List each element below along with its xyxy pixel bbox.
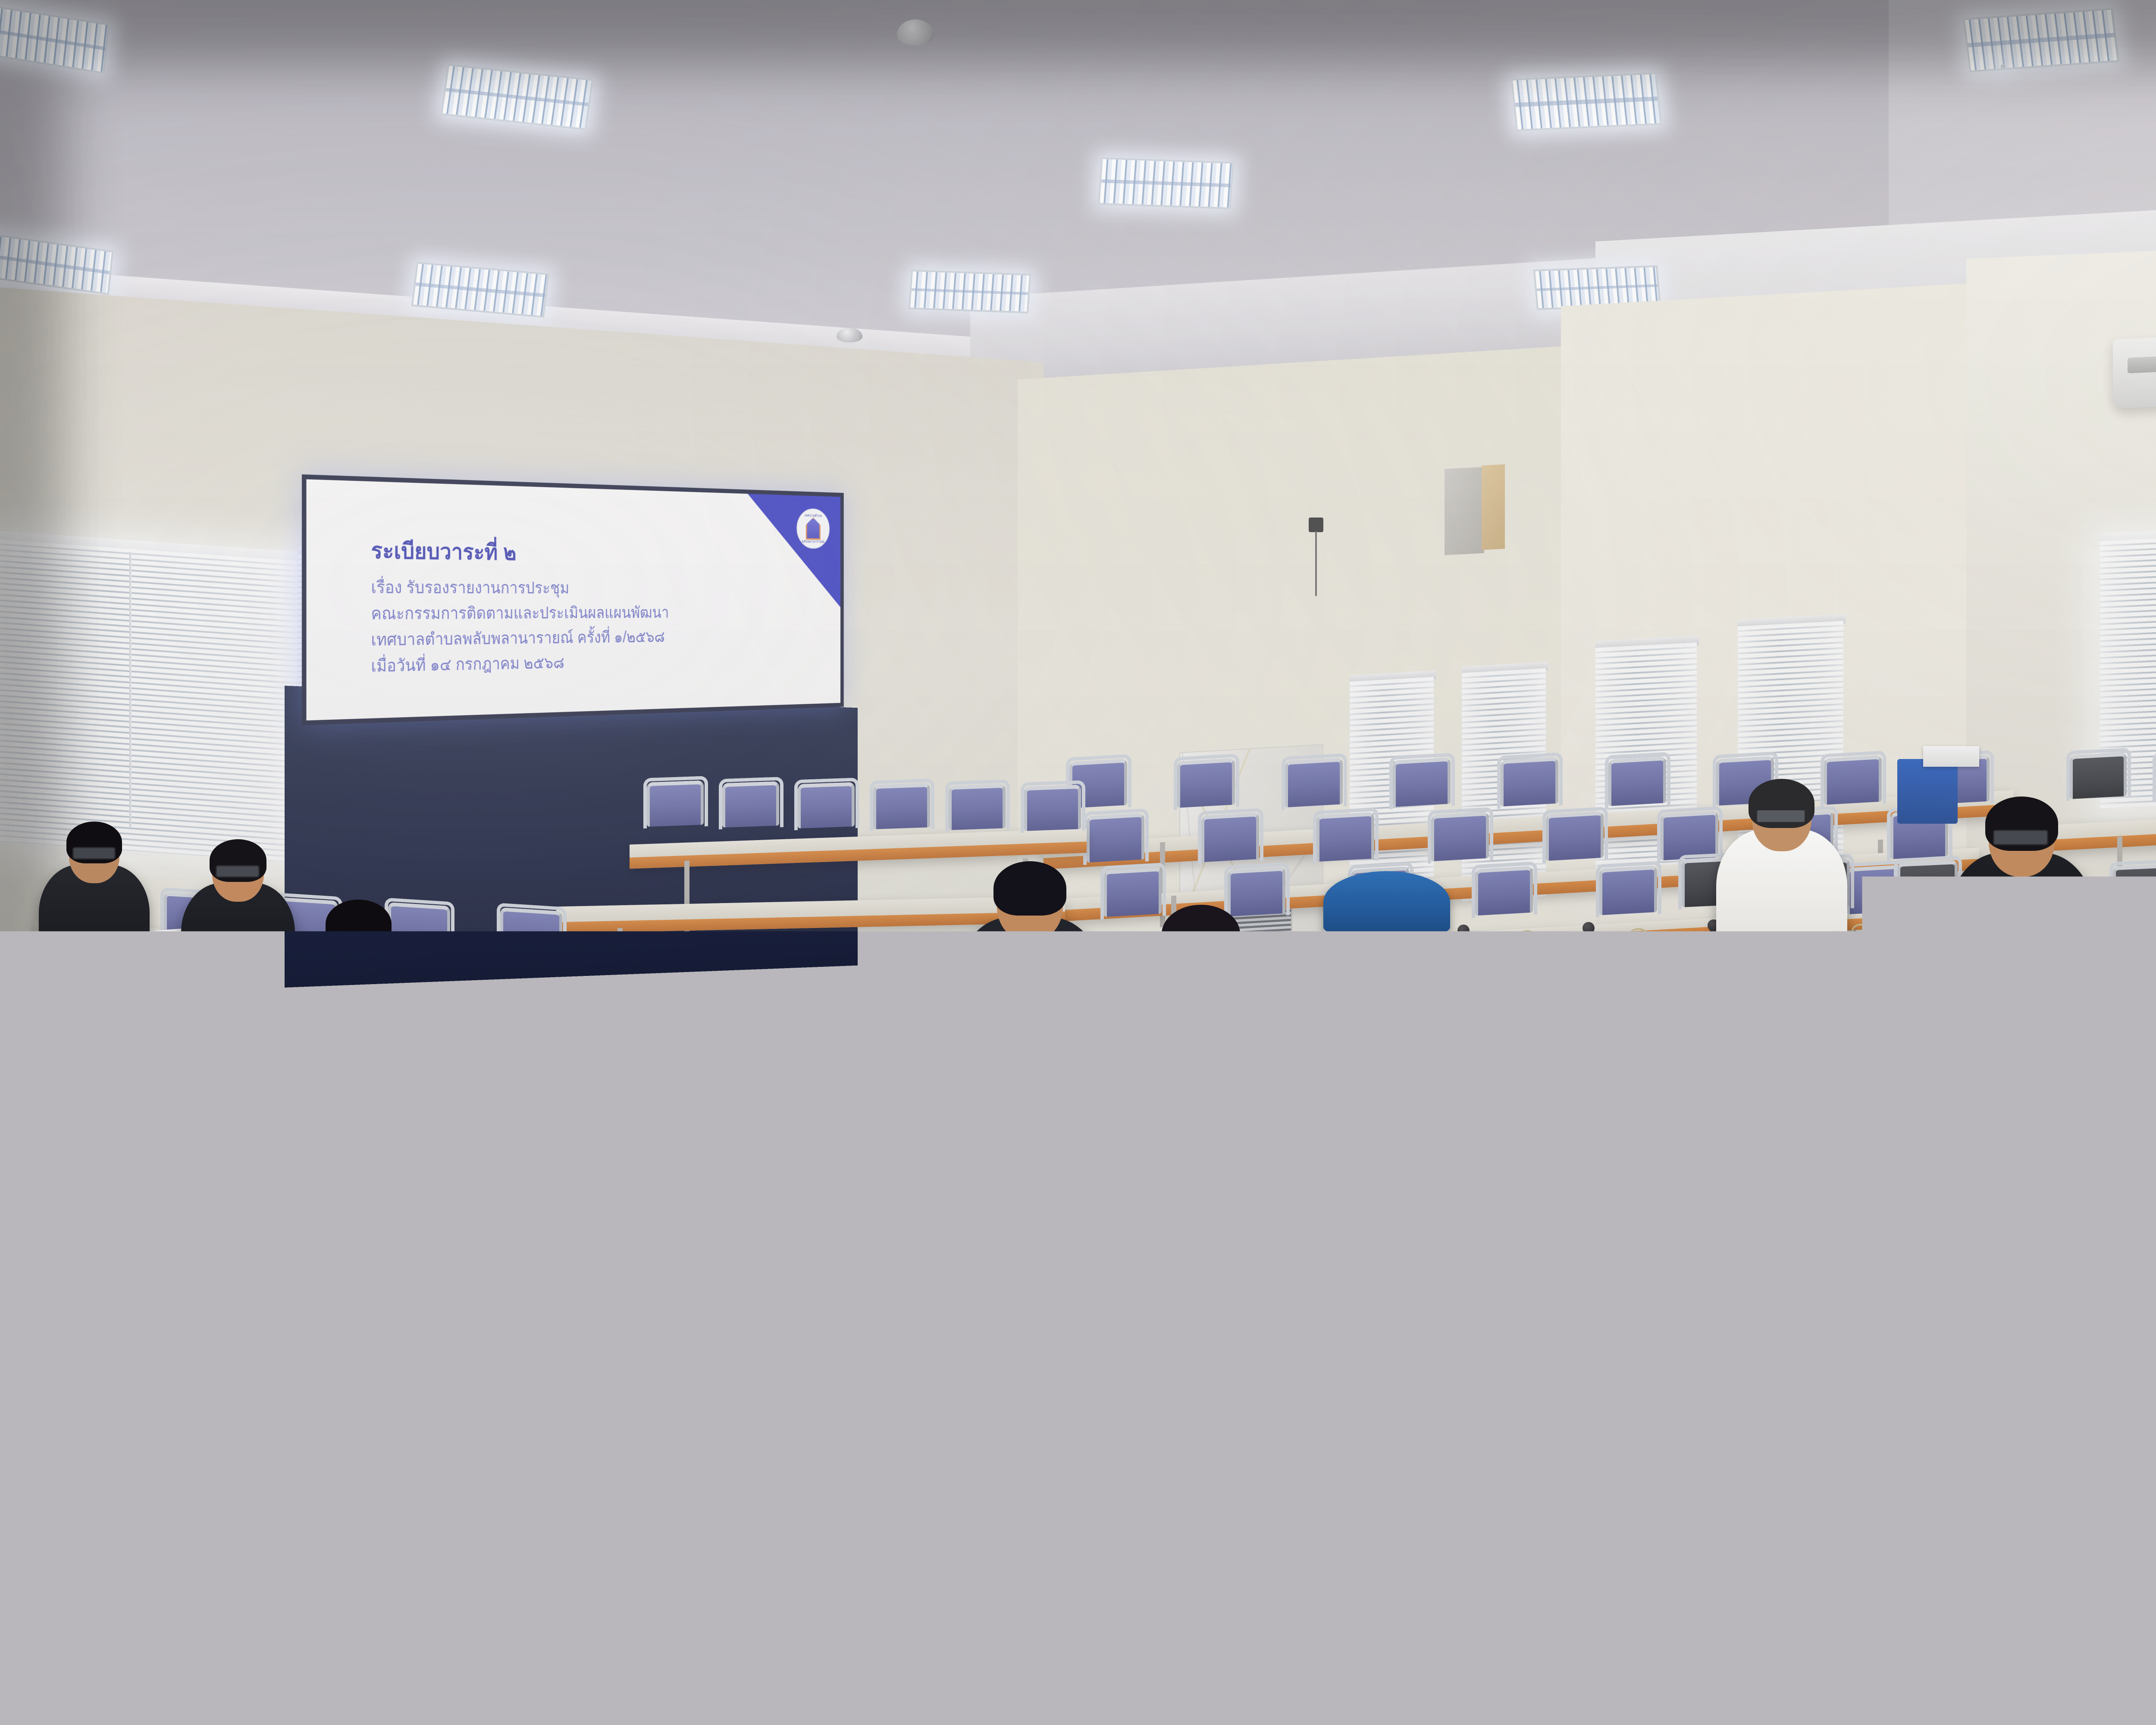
attendee <box>957 858 1103 1110</box>
attendee-jeans <box>1326 1301 1615 1471</box>
eyeglasses-icon <box>1349 945 1422 964</box>
attendee <box>39 819 150 1012</box>
eyeglasses-icon <box>609 1148 674 1166</box>
eyeglasses-icon <box>508 1082 567 1098</box>
waste-bin <box>1897 759 1958 824</box>
eyeglasses-icon <box>1170 941 1229 957</box>
attendee-arm <box>2100 1197 2156 1300</box>
attendee-hair <box>326 900 392 949</box>
attendee-arm <box>2101 996 2156 1065</box>
attendee-torso <box>1125 965 1276 1148</box>
attendee <box>1125 901 1276 1166</box>
attendee <box>181 837 295 1034</box>
attendee-hair <box>398 1004 471 1058</box>
eyeglasses-icon <box>1993 830 2048 845</box>
eyeglasses-icon <box>1756 809 1806 823</box>
attendee-torso <box>39 865 150 999</box>
paper-stack <box>1923 746 1979 767</box>
eyeglasses-icon <box>216 865 260 878</box>
hat <box>1323 871 1450 933</box>
chair[interactable] <box>2087 1328 2156 1663</box>
attendee-shoe <box>1424 1539 1572 1610</box>
attendee-torso <box>957 917 1103 1093</box>
attendees-layer <box>0 0 2156 1725</box>
attendee <box>1285 897 1489 1248</box>
attendee-torso <box>181 883 295 1021</box>
chair[interactable] <box>586 1414 843 1725</box>
attendee-hair <box>993 861 1066 916</box>
attendee-torso <box>1285 975 1489 1226</box>
eyeglasses-icon <box>72 847 116 859</box>
attendee <box>1949 793 2094 1045</box>
meeting-room-photo: เทศบาลตำบล พลับพลานารายณ์ ระเบียบวาระที่… <box>0 0 2156 1725</box>
